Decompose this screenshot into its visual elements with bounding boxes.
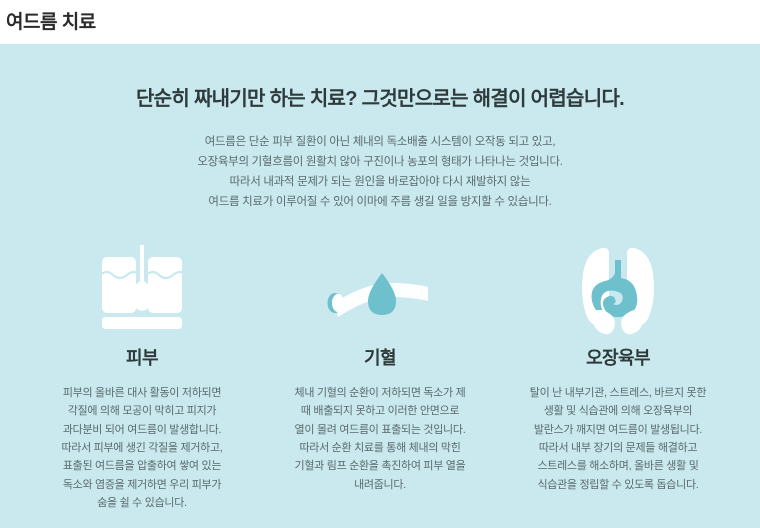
intro-body-line: 따라서 내과적 문제가 되는 원인을 바로잡아야 다시 재발하지 않는 xyxy=(0,172,760,192)
intro-body-line: 오장육부의 기혈흐름이 원활치 않아 구진이나 농포의 형태가 나타나는 것입니… xyxy=(0,152,760,172)
column-body-line: 생활 및 식습관에 의해 오장육부의 xyxy=(530,402,706,420)
column-body-line: 과다분비 되어 여드름이 발생합니다. xyxy=(61,421,222,439)
column-body-line: 따라서 순환 치료를 통해 체내의 막힌 xyxy=(295,439,466,457)
column-body-line: 식습관을 정립할 수 있도록 돕습니다. xyxy=(530,476,706,494)
column-body-line: 스트레스를 해소하며, 올바른 생활 및 xyxy=(530,457,706,475)
intro-body-line: 여드름 치료가 이루어질 수 있어 이마에 주름 생길 일을 방지할 수 있습니… xyxy=(0,192,760,212)
column-body-line: 기혈과 림프 순환을 촉진하여 피부 열을 xyxy=(295,457,466,475)
intro-headline: 단순히 짜내기만 하는 치료? 그것만으로는 해결이 어렵습니다. xyxy=(0,86,760,112)
column-body-line: 표출된 여드름을 압출하여 쌓여 있는 xyxy=(61,457,222,475)
intro-block: 단순히 짜내기만 하는 치료? 그것만으로는 해결이 어렵습니다. 여드름은 단… xyxy=(0,86,760,213)
column-body-skin: 피부의 올바른 대사 활동이 저하되면 각질에 의해 모공이 막히고 피지가 과… xyxy=(53,384,230,513)
column-body-qi-blood: 체내 기혈의 순환이 저하되면 독소가 제 때 배출되지 못하고 이러한 안면으… xyxy=(287,384,474,495)
column-body-line: 체내 기혈의 순환이 저하되면 독소가 제 xyxy=(295,384,466,402)
intro-body: 여드름은 단순 피부 질환이 아닌 체내의 독소배출 시스템이 오작동 되고 있… xyxy=(0,132,760,213)
skin-cross-section-icon xyxy=(90,240,194,340)
page-title: 여드름 치료 xyxy=(0,13,96,32)
feature-column-internal-organs: 오장육부 탈이 난 내부기관, 스트레스, 바르지 못한 생활 및 식습관에 의… xyxy=(504,240,732,494)
column-body-line: 따라서 내부 장기의 문제들 해결하고 xyxy=(530,439,706,457)
column-body-line: 독소와 염증을 제거하면 우리 피부가 xyxy=(61,476,222,494)
column-heading-qi-blood: 기혈 xyxy=(364,348,396,370)
content-panel: 단순히 짜내기만 하는 치료? 그것만으로는 해결이 어렵습니다. 여드름은 단… xyxy=(0,44,760,528)
column-body-line: 숨을 쉴 수 있습니다. xyxy=(61,494,222,512)
page-header: 여드름 치료 xyxy=(0,0,760,44)
column-heading-skin: 피부 xyxy=(126,348,158,370)
column-body-line: 내려줍니다. xyxy=(295,476,466,494)
column-body-line: 때 배출되지 못하고 이러한 안면으로 xyxy=(295,402,466,420)
column-body-line: 발란스가 깨지면 여드름이 발생됩니다. xyxy=(530,421,706,439)
column-heading-internal-organs: 오장육부 xyxy=(586,348,650,370)
feature-columns: 피부 피부의 올바른 대사 활동이 저하되면 각질에 의해 모공이 막히고 피지… xyxy=(0,240,760,513)
feature-column-skin: 피부 피부의 올바른 대사 활동이 저하되면 각질에 의해 모공이 막히고 피지… xyxy=(28,240,256,513)
column-body-line: 각질에 의해 모공이 막히고 피지가 xyxy=(61,402,222,420)
blood-vessel-droplet-icon xyxy=(320,240,440,340)
feature-column-qi-blood: 기혈 체내 기혈의 순환이 저하되면 독소가 제 때 배출되지 못하고 이러한 … xyxy=(266,240,494,494)
infographic-page: 여드름 치료 단순히 짜내기만 하는 치료? 그것만으로는 해결이 어렵습니다.… xyxy=(0,0,760,528)
column-body-line: 탈이 난 내부기관, 스트레스, 바르지 못한 xyxy=(530,384,706,402)
column-body-internal-organs: 탈이 난 내부기관, 스트레스, 바르지 못한 생활 및 식습관에 의해 오장육… xyxy=(522,384,714,495)
column-body-line: 피부의 올바른 대사 활동이 저하되면 xyxy=(61,384,222,402)
column-body-line: 따라서 피부에 생긴 각질을 제거하고, xyxy=(61,439,222,457)
internal-organs-icon xyxy=(572,240,664,340)
intro-body-line: 여드름은 단순 피부 질환이 아닌 체내의 독소배출 시스템이 오작동 되고 있… xyxy=(0,132,760,152)
column-body-line: 열이 몰려 여드름이 표출되는 것입니다. xyxy=(295,421,466,439)
